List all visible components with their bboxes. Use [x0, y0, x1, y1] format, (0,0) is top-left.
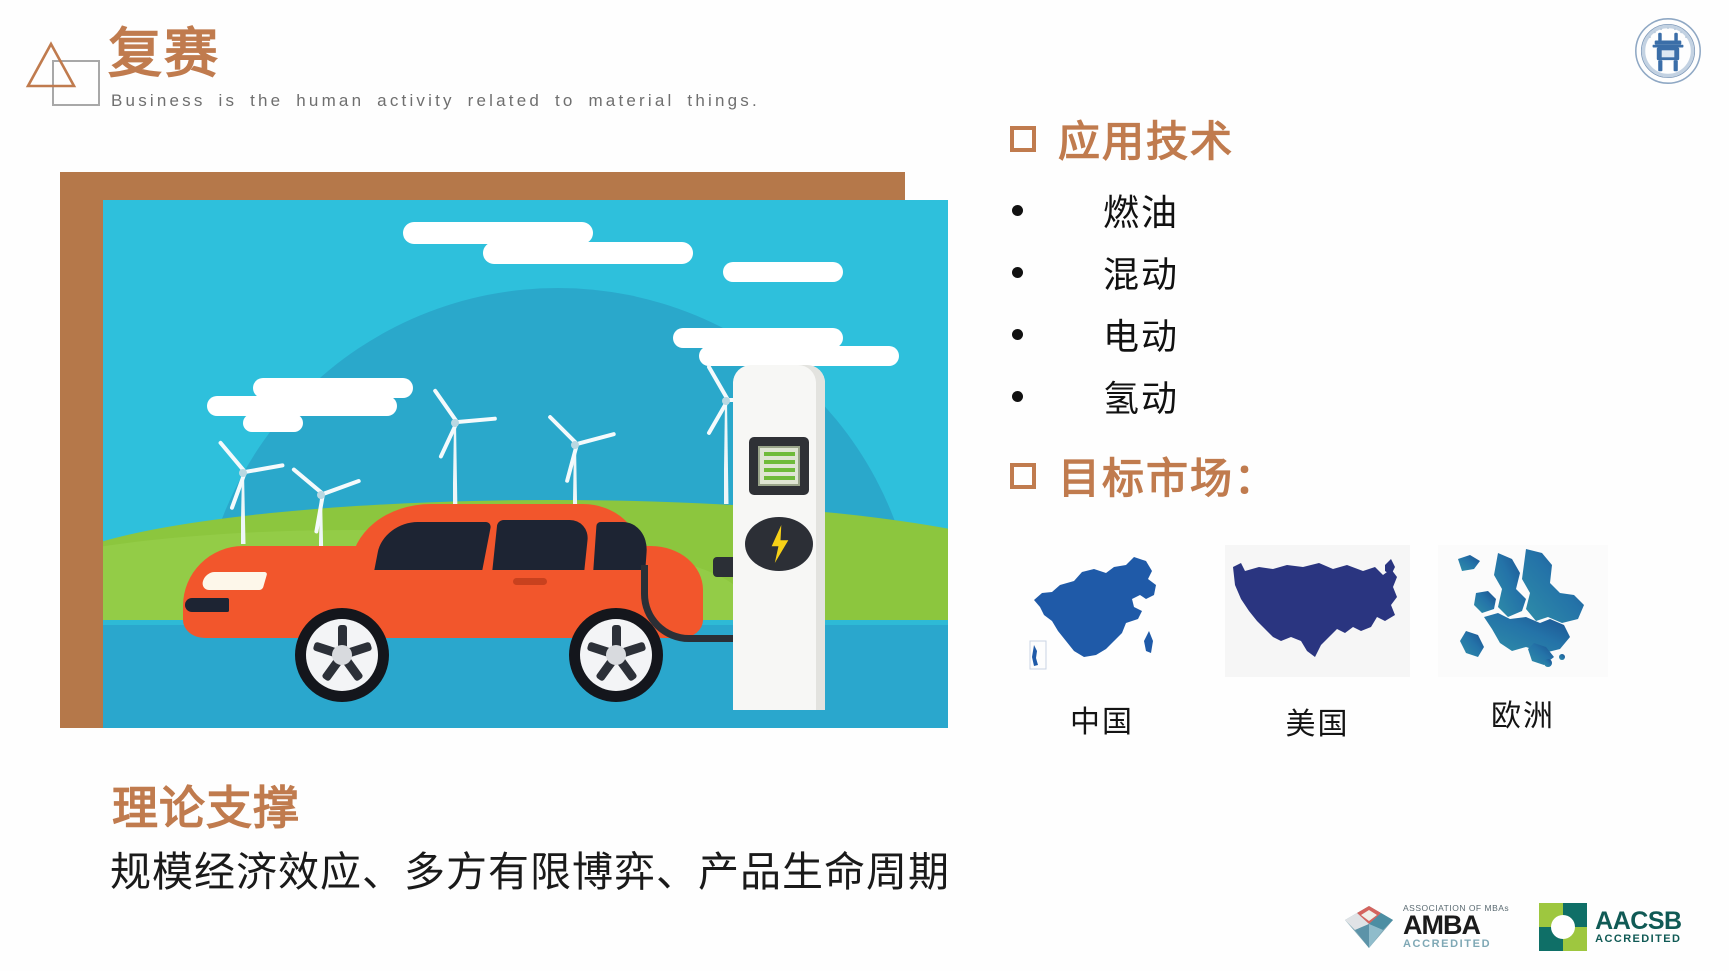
bullet-dot-icon — [1012, 267, 1023, 278]
triangle-square-icon — [22, 36, 100, 102]
university-seal-logo — [1633, 16, 1703, 86]
market-label: 中国 — [1022, 697, 1182, 741]
car-window — [374, 522, 491, 570]
cloud-shape — [243, 414, 303, 432]
bullet-dot-icon — [1012, 391, 1023, 402]
aacsb-wordmark: AACSB — [1595, 908, 1681, 934]
lightning-bolt-icon — [745, 517, 813, 571]
car-door-handle — [513, 578, 547, 585]
target-market-section-header: 目标市场： — [1010, 445, 1710, 506]
cloud-shape — [723, 262, 843, 282]
theory-heading: 理论支撑 — [112, 772, 300, 838]
square-outline-bullet-icon — [1010, 126, 1036, 152]
theory-body-text: 规模经济效应、多方有限博弈、产品生命周期 — [110, 838, 950, 898]
accreditation-logos: ASSOCIATION OF MBAs AMBA ACCREDITED AACS… — [1343, 903, 1682, 951]
charger-pillar — [733, 365, 825, 710]
triangle-outline-shape — [22, 36, 100, 102]
list-item-label: 电动 — [1103, 308, 1179, 360]
china-map-icon — [1022, 545, 1182, 677]
square-outline-bullet-icon — [1010, 463, 1036, 489]
market-item-usa[interactable]: 美国 — [1225, 545, 1410, 743]
europe-map-icon — [1438, 545, 1608, 677]
presentation-slide: 复赛 Business is the human activity relate… — [0, 0, 1729, 971]
market-item-europe[interactable]: 欧洲 — [1438, 545, 1608, 735]
list-item[interactable]: 电动 — [1010, 303, 1710, 365]
car-grille — [185, 598, 229, 612]
aacsb-text-block: AACSB ACCREDITED — [1595, 908, 1681, 946]
aacsb-pinwheel-icon — [1539, 903, 1587, 951]
ev-charging-station — [733, 365, 825, 710]
list-item-label: 燃油 — [1103, 184, 1179, 236]
list-item[interactable]: 燃油 — [1010, 179, 1710, 241]
applied-technology-title: 应用技术 — [1058, 108, 1234, 169]
right-content-column: 应用技术 燃油 混动 电动 氢动 目标市场： — [1010, 108, 1710, 516]
cloud-shape — [403, 222, 593, 244]
amba-diamond-icon — [1343, 904, 1395, 950]
car-window — [492, 520, 589, 570]
list-item-label: 氢动 — [1103, 370, 1179, 422]
market-label: 美国 — [1225, 699, 1410, 743]
market-item-china[interactable]: 中国 — [1022, 545, 1182, 741]
bullet-dot-icon — [1012, 329, 1023, 340]
applied-technology-list: 燃油 混动 电动 氢动 — [1010, 179, 1710, 427]
aacsb-accredited-label: ACCREDITED — [1595, 934, 1681, 946]
cloud-shape — [207, 396, 397, 416]
amba-accreditation-logo: ASSOCIATION OF MBAs AMBA ACCREDITED — [1343, 904, 1509, 951]
cloud-shape — [699, 346, 899, 366]
page-subtitle: Business is the human activity related t… — [111, 91, 760, 111]
usa-map-icon — [1225, 545, 1410, 677]
cloud-shape — [673, 328, 843, 348]
electric-car-illustration — [183, 500, 703, 690]
market-label: 欧洲 — [1438, 691, 1608, 735]
applied-technology-section-header: 应用技术 — [1010, 108, 1710, 169]
page-title: 复赛 — [108, 26, 760, 83]
aacsb-accreditation-logo: AACSB ACCREDITED — [1539, 903, 1681, 951]
charger-screen — [749, 437, 809, 495]
cloud-shape — [483, 242, 693, 264]
list-item-label: 混动 — [1103, 246, 1179, 298]
list-item[interactable]: 混动 — [1010, 241, 1710, 303]
target-market-list: 中国 美国 — [1022, 545, 1622, 743]
cloud-shape — [253, 378, 413, 398]
car-headlight — [200, 572, 267, 590]
electric-car-charging-illustration — [103, 200, 948, 728]
amba-text-block: ASSOCIATION OF MBAs AMBA ACCREDITED — [1403, 904, 1509, 951]
amba-wordmark: AMBA — [1403, 912, 1509, 939]
list-item[interactable]: 氢动 — [1010, 365, 1710, 427]
car-wheel — [295, 608, 389, 702]
amba-accredited-label: ACCREDITED — [1403, 939, 1509, 950]
car-window — [593, 522, 648, 570]
illustration-container — [60, 172, 905, 728]
car-wheel — [569, 608, 663, 702]
bullet-dot-icon — [1012, 205, 1023, 216]
target-market-title: 目标市场： — [1058, 445, 1278, 506]
page-title-block: 复赛 Business is the human activity relate… — [108, 26, 760, 111]
